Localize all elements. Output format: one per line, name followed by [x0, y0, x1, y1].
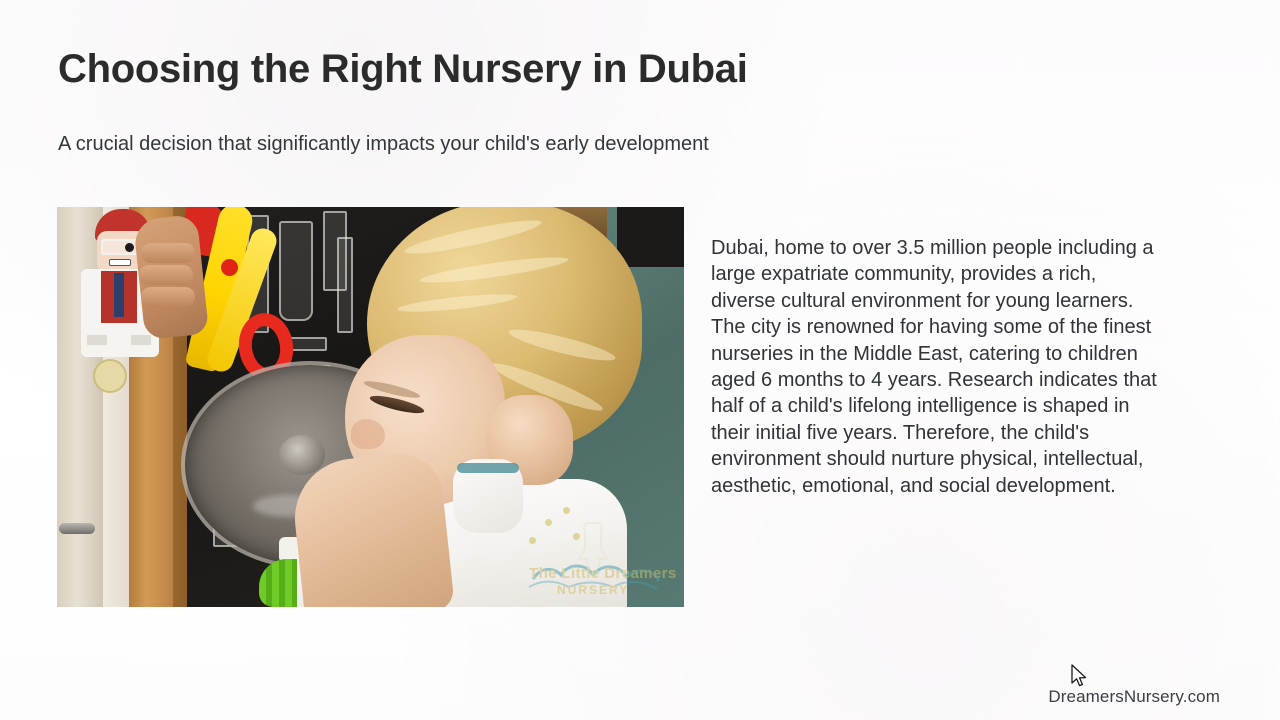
- child-arm: [289, 450, 455, 607]
- page-title: Choosing the Right Nursery in Dubai: [58, 46, 748, 92]
- photo-scene: The Little Dreamers NURSERY: [57, 207, 684, 607]
- shirt-star-print: [563, 507, 570, 514]
- hair-strand: [403, 215, 543, 260]
- hair-strand: [507, 324, 618, 366]
- page-subtitle: A crucial decision that significantly im…: [58, 131, 709, 157]
- sleeve-band: [457, 463, 519, 473]
- hand-finger: [139, 265, 193, 285]
- door-handle-icon: [59, 523, 95, 534]
- cartoon-medal-icon: [93, 359, 127, 393]
- hand-finger: [141, 287, 195, 307]
- cartoon-pocket: [131, 335, 151, 345]
- cartoon-pocket: [87, 335, 107, 345]
- cartoon-mouth: [109, 259, 131, 266]
- child-subject: [357, 207, 684, 607]
- shirt-star-print: [573, 533, 580, 540]
- presentation-slide: Choosing the Right Nursery in Dubai A cr…: [0, 0, 1280, 720]
- cartoon-eye: [125, 243, 134, 252]
- body-paragraph: Dubai, home to over 3.5 million people i…: [711, 235, 1163, 499]
- cartoon-tie: [114, 273, 124, 317]
- child-nose: [351, 419, 385, 449]
- footer-brand: DreamersNursery.com: [1048, 687, 1220, 707]
- hair-strand: [419, 253, 569, 288]
- shirt-star-print: [529, 537, 536, 544]
- nursery-photo: The Little Dreamers NURSERY: [57, 207, 684, 607]
- pot-lid-knob: [279, 435, 325, 475]
- hand-finger: [141, 243, 195, 263]
- shirt-star-print: [545, 519, 552, 526]
- hair-strand: [397, 291, 518, 315]
